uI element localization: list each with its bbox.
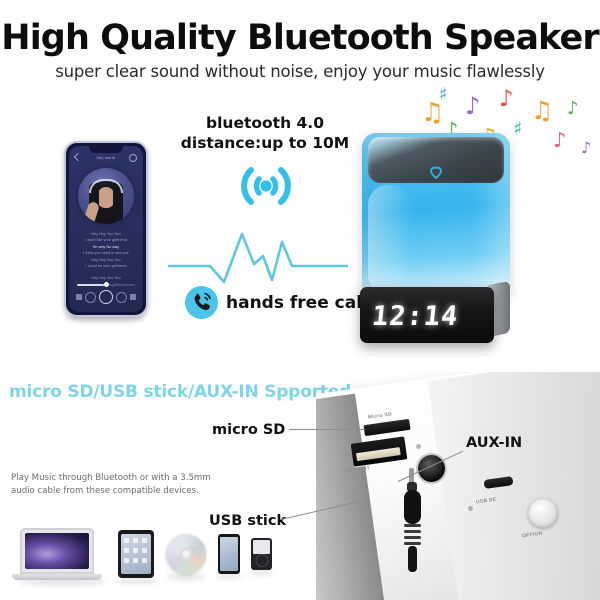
speaker-top-panel bbox=[368, 137, 504, 183]
music-note-icon: ♯ bbox=[513, 120, 522, 139]
album-art bbox=[78, 168, 134, 224]
ports-section-title: micro SD/USB stick/AUX-IN Spported bbox=[9, 382, 351, 402]
cd-shadow bbox=[166, 574, 206, 580]
laptop-base bbox=[12, 574, 102, 580]
tablet-display bbox=[121, 534, 151, 574]
wireless-signal-icon bbox=[230, 160, 302, 212]
bluetooth-version-label: bluetooth 4.0 bbox=[175, 113, 355, 133]
compatible-devices-row bbox=[8, 522, 223, 582]
ports-section: micro SD/USB stick/AUX-IN Spported Micro… bbox=[0, 358, 600, 600]
leader-line-micro-sd bbox=[289, 429, 365, 430]
favorite-icon[interactable] bbox=[129, 154, 137, 162]
smartphone-display bbox=[220, 537, 238, 571]
music-note-icon: ♪ bbox=[499, 88, 514, 111]
mp3-player-icon bbox=[251, 538, 272, 570]
bluetooth-distance-label: distance:up to 10M bbox=[175, 133, 355, 153]
music-note-icon: ♪ bbox=[567, 100, 579, 118]
hands-free-call-label: hands free call bbox=[226, 293, 368, 313]
music-note-icon: ♪ bbox=[581, 140, 591, 156]
panel-indicator-led bbox=[468, 506, 473, 511]
tablet-icon bbox=[118, 530, 154, 578]
speaker-clock-base: 12:14 bbox=[360, 287, 494, 343]
phone-notch bbox=[89, 146, 123, 153]
mp3-shadow bbox=[249, 570, 274, 575]
cd-disc-icon bbox=[166, 534, 206, 574]
phone-mockup: hey world Hey Hey You You I don't like y… bbox=[64, 141, 148, 317]
bluetooth-speaker-product: 12:14 bbox=[362, 133, 510, 343]
music-note-icon: ♯ bbox=[439, 86, 448, 104]
bluetooth-spec: bluetooth 4.0 distance:up to 10M bbox=[175, 113, 355, 153]
play-pause-icon[interactable] bbox=[99, 290, 113, 304]
product-marketing-image: High Quality Bluetooth Speaker super cle… bbox=[0, 0, 600, 600]
mp3-display bbox=[253, 540, 270, 554]
music-note-icon: ♪ bbox=[465, 94, 480, 118]
aux-cable-icon bbox=[400, 468, 428, 572]
lyrics-list: Hey Hey You You I don't like your girlfr… bbox=[69, 231, 143, 288]
led-clock-display: 12:14 bbox=[370, 301, 460, 332]
music-note-icon: ♫ bbox=[531, 98, 553, 123]
shuffle-icon[interactable] bbox=[76, 294, 82, 300]
usb-tongue bbox=[356, 447, 401, 461]
tablet-shadow bbox=[116, 578, 158, 584]
power-button[interactable] bbox=[528, 498, 558, 528]
playback-controls[interactable] bbox=[69, 290, 143, 304]
next-icon[interactable] bbox=[116, 292, 127, 303]
speaker-body bbox=[362, 133, 510, 301]
progress-bar[interactable] bbox=[77, 284, 135, 286]
phone-screen: hey world Hey Hey You You I don't like y… bbox=[69, 146, 143, 312]
speaker-gloss bbox=[368, 185, 412, 295]
smartphone-shadow bbox=[216, 574, 242, 579]
compatibility-blurb: Play Music through Bluetooth or with a 3… bbox=[11, 472, 211, 497]
panel-edge bbox=[428, 372, 600, 600]
panel-screw bbox=[416, 444, 421, 449]
audio-waveform-icon bbox=[168, 228, 348, 288]
laptop-icon bbox=[20, 528, 94, 574]
phone-call-icon bbox=[185, 286, 218, 319]
repeat-icon[interactable] bbox=[130, 294, 136, 300]
page-title: High Quality Bluetooth Speaker bbox=[0, 18, 600, 58]
smartphone-icon bbox=[218, 534, 240, 574]
speaker-rear-panel-photo: Micro SD USB HOST bbox=[316, 372, 600, 600]
touch-sensor-icon bbox=[425, 161, 447, 181]
headphones-icon bbox=[89, 179, 123, 193]
music-note-icon: ♪ bbox=[553, 130, 566, 151]
mp3-wheel bbox=[255, 554, 268, 567]
previous-icon[interactable] bbox=[85, 292, 96, 303]
callout-aux-in: AUX-IN bbox=[466, 435, 522, 451]
callout-micro-sd: micro SD bbox=[212, 422, 285, 438]
laptop-display bbox=[25, 533, 89, 569]
